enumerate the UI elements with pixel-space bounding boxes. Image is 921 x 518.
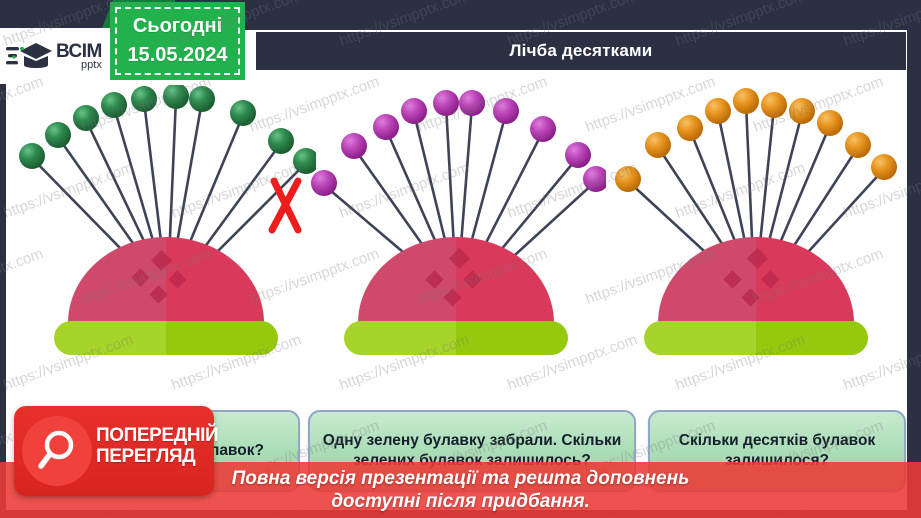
logo-wordmark: ВСІМ pptx	[56, 42, 102, 71]
preview-badge: ПОПЕРЕДНІЙ ПЕРЕГЛЯД	[14, 406, 214, 496]
slide-title-bar: Лічба десятками	[256, 32, 906, 70]
preview-line-2: ПЕРЕГЛЯД	[96, 446, 195, 467]
brand-logo: ВСІМ pptx	[0, 28, 113, 84]
pincushion-illustration-group	[6, 85, 907, 385]
pincushion-purple	[306, 85, 606, 385]
cross-out-icon	[272, 181, 298, 230]
preview-line-1: ПОПЕРЕДНІЙ	[96, 425, 218, 446]
date-badge-value: 15.05.2024	[127, 41, 227, 70]
purchase-notice-text: Повна версія презентації та решта доповн…	[232, 467, 690, 513]
preview-badge-text: ПОПЕРЕДНІЙ ПЕРЕГЛЯД	[96, 426, 218, 467]
page-title: Лічба десятками	[510, 41, 653, 61]
ribbon-line-1: Повна версія презентації та решта доповн…	[232, 468, 690, 489]
ribbon-line-2: доступні після придбання.	[331, 491, 590, 512]
graduation-cap-icon	[6, 38, 54, 74]
date-badge: Сьогодні 15.05.2024	[110, 2, 245, 80]
pincushion-orange	[606, 85, 906, 385]
date-badge-label: Сьогодні	[133, 12, 222, 41]
pincushion-green	[16, 85, 316, 385]
magnifier-icon	[22, 416, 92, 486]
slide-canvas: Скільки десятків булавок? Одну зелену бу…	[0, 0, 921, 518]
